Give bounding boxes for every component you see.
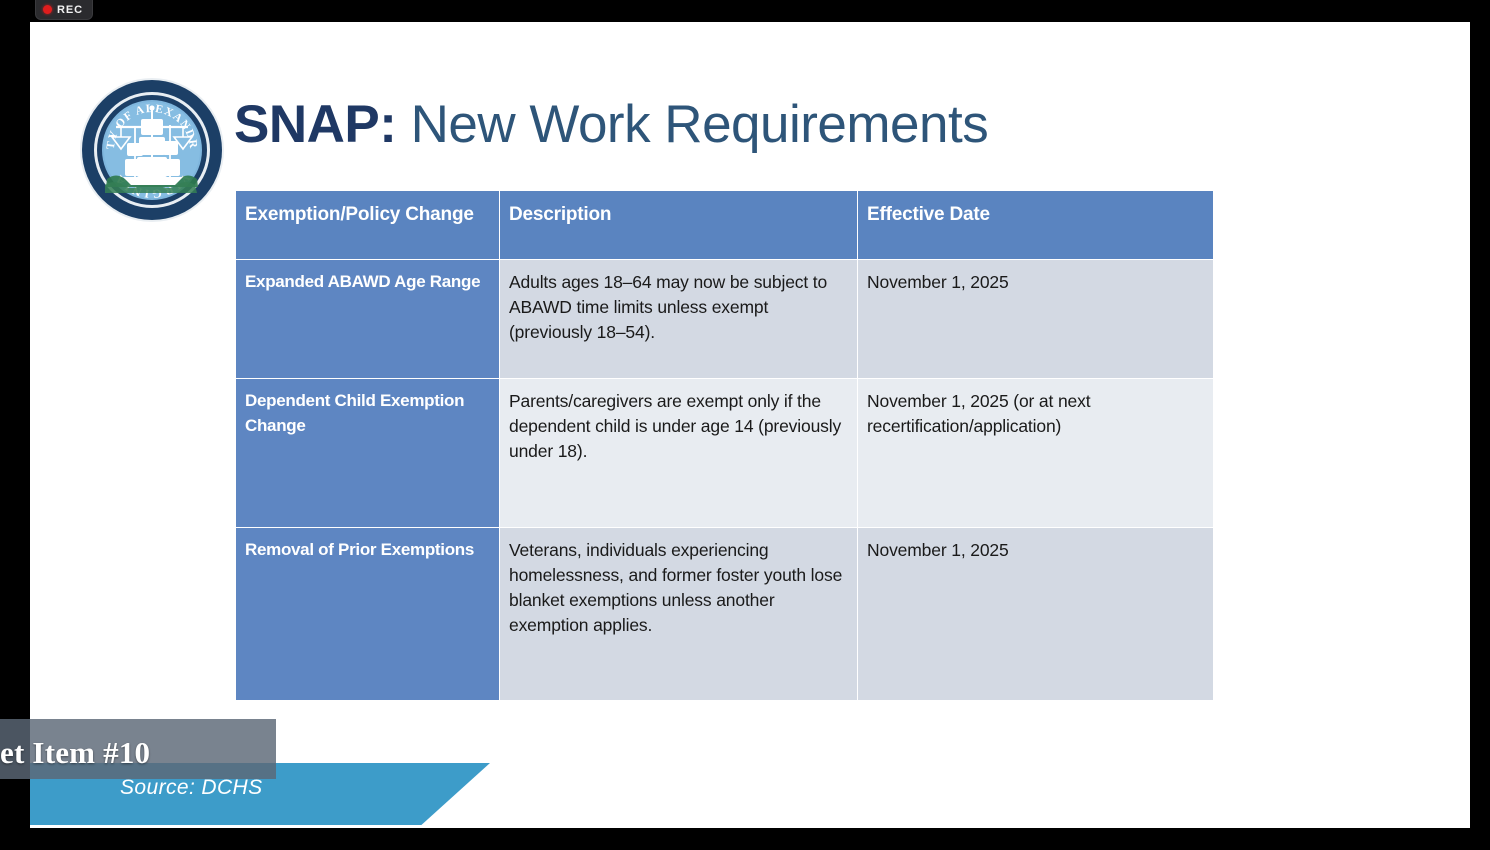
- title-remainder: New Work Requirements: [396, 95, 988, 154]
- column-header-effective-date: Effective Date: [858, 191, 1214, 260]
- column-header-policy: Exemption/Policy Change: [236, 191, 500, 260]
- page-title: SNAP: New Work Requirements: [234, 97, 988, 153]
- column-header-description: Description: [500, 191, 858, 260]
- cell-effective-date: November 1, 2025 (or at next recertifica…: [858, 379, 1214, 528]
- cell-description: Veterans, individuals experiencing homel…: [500, 528, 858, 701]
- city-seal-logo: CITY OF ALEXANDRIA VIRGINIA: [77, 75, 227, 225]
- table-row: Dependent Child Exemption Change Parents…: [236, 379, 1214, 528]
- work-requirements-table: Exemption/Policy Change Description Effe…: [235, 190, 1214, 701]
- source-note: Source: DCHS: [120, 776, 263, 800]
- presentation-slide: CITY OF ALEXANDRIA VIRGINIA: [30, 22, 1470, 828]
- video-screen: REC CITY OF ALEXANDRIA VI: [0, 0, 1490, 850]
- table-header-row: Exemption/Policy Change Description Effe…: [236, 191, 1214, 260]
- title-emphasis: SNAP:: [234, 95, 396, 154]
- record-dot-icon: [43, 5, 52, 14]
- table-row: Expanded ABAWD Age Range Adults ages 18–…: [236, 260, 1214, 379]
- recording-indicator: REC: [36, 0, 92, 19]
- cell-description: Adults ages 18–64 may now be subject to …: [500, 260, 858, 379]
- recording-label: REC: [57, 4, 83, 16]
- cell-description: Parents/caregivers are exempt only if th…: [500, 379, 858, 528]
- cell-policy: Expanded ABAWD Age Range: [236, 260, 500, 379]
- cell-effective-date: November 1, 2025: [858, 528, 1214, 701]
- cell-effective-date: November 1, 2025: [858, 260, 1214, 379]
- docket-item-label: et Item #10: [0, 735, 150, 771]
- cell-policy: Dependent Child Exemption Change: [236, 379, 500, 528]
